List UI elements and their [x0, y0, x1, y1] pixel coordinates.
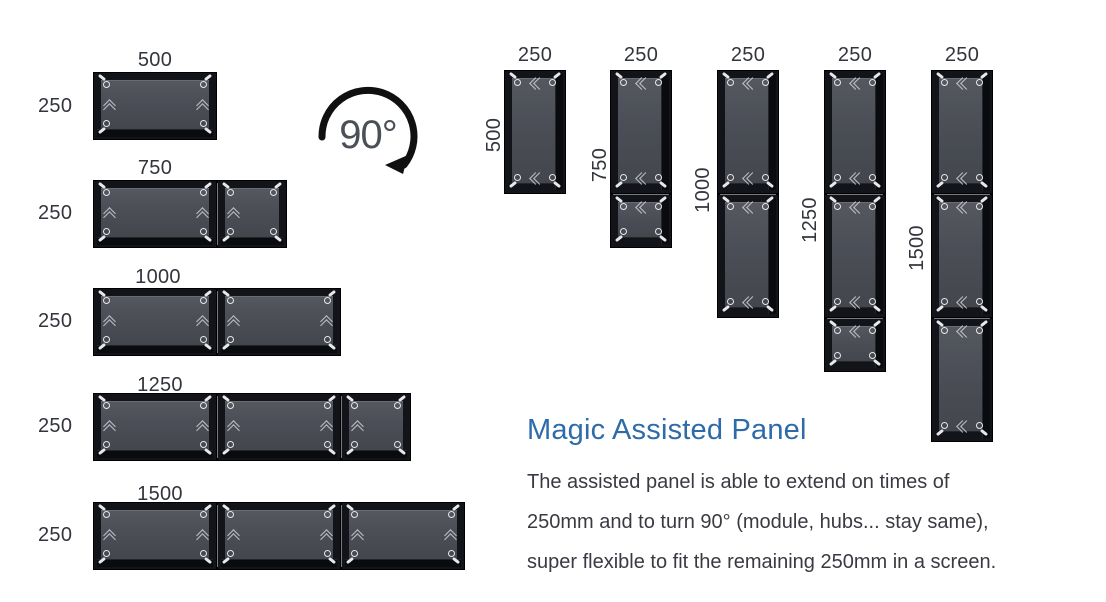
latch-icon — [201, 441, 214, 454]
latch-icon — [550, 174, 563, 187]
module-seam — [217, 291, 218, 353]
chevron-align-icon — [445, 531, 456, 540]
latch-icon — [344, 441, 357, 454]
latch-icon — [96, 336, 109, 349]
chevron-align-icon — [958, 78, 967, 89]
chevron-align-icon — [228, 209, 239, 218]
latch-icon — [934, 298, 947, 311]
chevron-align-icon — [104, 209, 115, 218]
latch-icon — [656, 174, 669, 187]
chevron-align-icon — [637, 202, 646, 213]
panel-module — [931, 194, 993, 318]
description-line-1: The assisted panel is able to extend on … — [527, 462, 1067, 502]
dimension-label-width-1250: 1250 — [137, 375, 183, 395]
chevron-align-icon — [637, 173, 646, 184]
panel-module — [217, 393, 341, 461]
chevron-align-icon — [851, 326, 860, 337]
chevron-align-icon — [104, 317, 115, 326]
latch-icon — [977, 321, 990, 334]
latch-icon — [96, 183, 109, 196]
dimension-label-width-500: 500 — [138, 50, 172, 70]
latch-icon — [870, 298, 883, 311]
panel-module — [717, 194, 779, 318]
latch-icon — [827, 174, 840, 187]
latch-icon — [325, 396, 338, 409]
latch-icon — [220, 291, 233, 304]
latch-icon — [220, 441, 233, 454]
latch-icon — [325, 291, 338, 304]
latch-icon — [96, 505, 109, 518]
latch-icon — [827, 197, 840, 210]
panel-module — [824, 194, 886, 318]
latch-icon — [977, 422, 990, 435]
panel-horizontal-1500 — [93, 502, 465, 570]
latch-icon — [656, 73, 669, 86]
panel-module — [341, 393, 411, 461]
latch-icon — [201, 336, 214, 349]
latch-icon — [720, 73, 733, 86]
latch-icon — [613, 174, 626, 187]
chevron-align-icon — [197, 317, 208, 326]
latch-icon — [325, 336, 338, 349]
latch-icon — [870, 197, 883, 210]
latch-icon — [201, 550, 214, 563]
chevron-align-icon — [958, 202, 967, 213]
latch-icon — [220, 336, 233, 349]
panel-vertical-1250 — [824, 70, 886, 372]
latch-icon — [96, 228, 109, 241]
latch-icon — [763, 174, 776, 187]
panel-horizontal-750 — [93, 180, 287, 248]
latch-icon — [96, 396, 109, 409]
panel-module — [931, 70, 993, 194]
latch-icon — [220, 183, 233, 196]
panel-vertical-750 — [610, 70, 672, 248]
latch-icon — [720, 197, 733, 210]
chevron-align-icon — [958, 421, 967, 432]
latch-icon — [977, 174, 990, 187]
chevron-align-icon — [637, 78, 646, 89]
rotation-angle-label: 90° — [308, 75, 428, 195]
panel-module — [610, 194, 672, 248]
chevron-align-icon — [851, 173, 860, 184]
dimension-label-height-750: 250 — [38, 203, 72, 223]
latch-icon — [344, 505, 357, 518]
module-seam — [341, 505, 342, 567]
panel-module — [217, 288, 341, 356]
panel-vertical-1500 — [931, 70, 993, 442]
latch-icon — [613, 228, 626, 241]
panel-module — [93, 502, 217, 570]
section-description: The assisted panel is able to extend on … — [527, 462, 1067, 582]
panel-module — [93, 288, 217, 356]
latch-icon — [96, 75, 109, 88]
panel-module — [931, 318, 993, 442]
dimension-label-width-v500: 250 — [518, 45, 552, 65]
latch-icon — [96, 550, 109, 563]
dimension-label-height-1000: 250 — [38, 311, 72, 331]
latch-icon — [827, 321, 840, 334]
module-seam — [827, 318, 883, 319]
latch-icon — [870, 73, 883, 86]
module-seam — [720, 194, 776, 195]
latch-icon — [934, 174, 947, 187]
chevron-align-icon — [104, 101, 115, 110]
latch-icon — [977, 197, 990, 210]
chevron-align-icon — [851, 297, 860, 308]
latch-icon — [220, 228, 233, 241]
chevron-align-icon — [197, 101, 208, 110]
latch-icon — [934, 422, 947, 435]
latch-icon — [201, 291, 214, 304]
panel-module — [824, 70, 886, 194]
panel-module — [610, 70, 672, 194]
latch-icon — [96, 441, 109, 454]
dimension-label-height-1250: 250 — [38, 416, 72, 436]
panel-module — [93, 393, 217, 461]
panel-module — [504, 70, 566, 194]
latch-icon — [395, 396, 408, 409]
latch-icon — [977, 298, 990, 311]
panel-horizontal-1250 — [93, 393, 411, 461]
module-seam — [217, 396, 218, 458]
dimension-label-height-v1500: 1500 — [907, 225, 927, 271]
dimension-label-height-1500: 250 — [38, 525, 72, 545]
chevron-align-icon — [197, 531, 208, 540]
panel-horizontal-1000 — [93, 288, 341, 356]
latch-icon — [449, 505, 462, 518]
dimension-label-height-v1000: 1000 — [693, 167, 713, 213]
panel-module — [217, 502, 341, 570]
chevron-align-icon — [321, 531, 332, 540]
latch-icon — [870, 352, 883, 365]
description-line-3: super flexible to fit the remaining 250m… — [527, 542, 1067, 582]
panel-horizontal-500 — [93, 72, 217, 140]
latch-icon — [550, 73, 563, 86]
dimension-label-height-v1250: 1250 — [800, 197, 820, 243]
rotation-badge: 90° — [308, 75, 428, 195]
latch-icon — [613, 197, 626, 210]
latch-icon — [271, 228, 284, 241]
chevron-align-icon — [104, 422, 115, 431]
latch-icon — [96, 291, 109, 304]
latch-icon — [720, 298, 733, 311]
latch-icon — [763, 197, 776, 210]
panel-module — [93, 180, 217, 248]
module-seam — [934, 318, 990, 319]
chevron-align-icon — [958, 326, 967, 337]
latch-icon — [325, 505, 338, 518]
latch-icon — [344, 396, 357, 409]
module-seam — [217, 505, 218, 567]
latch-icon — [827, 352, 840, 365]
latch-icon — [656, 197, 669, 210]
latch-icon — [870, 174, 883, 187]
latch-icon — [271, 183, 284, 196]
latch-icon — [827, 298, 840, 311]
panel-module — [93, 72, 217, 140]
chevron-align-icon — [531, 78, 540, 89]
chevron-align-icon — [744, 78, 753, 89]
module-seam — [217, 183, 218, 245]
chevron-align-icon — [531, 173, 540, 184]
dimension-label-height-v500: 500 — [484, 118, 504, 152]
latch-icon — [763, 73, 776, 86]
dimension-label-height-v750: 750 — [590, 148, 610, 182]
module-seam — [613, 194, 669, 195]
chevron-align-icon — [352, 531, 363, 540]
chevron-align-icon — [851, 202, 860, 213]
latch-icon — [96, 120, 109, 133]
latch-icon — [720, 174, 733, 187]
module-seam — [827, 194, 883, 195]
latch-icon — [201, 75, 214, 88]
latch-icon — [201, 505, 214, 518]
chevron-align-icon — [228, 531, 239, 540]
chevron-align-icon — [851, 78, 860, 89]
latch-icon — [449, 550, 462, 563]
chevron-align-icon — [744, 173, 753, 184]
latch-icon — [201, 228, 214, 241]
latch-icon — [220, 396, 233, 409]
panel-module — [824, 318, 886, 372]
chevron-align-icon — [104, 531, 115, 540]
latch-icon — [827, 73, 840, 86]
chevron-align-icon — [197, 209, 208, 218]
latch-icon — [507, 73, 520, 86]
latch-icon — [395, 441, 408, 454]
panel-vertical-500 — [504, 70, 566, 194]
latch-icon — [507, 174, 520, 187]
latch-icon — [201, 183, 214, 196]
dimension-label-width-750: 750 — [138, 158, 172, 178]
chevron-align-icon — [744, 202, 753, 213]
latch-icon — [325, 550, 338, 563]
latch-icon — [656, 228, 669, 241]
chevron-align-icon — [744, 297, 753, 308]
dimension-label-width-1500: 1500 — [137, 484, 183, 504]
chevron-align-icon — [228, 317, 239, 326]
panel-module — [717, 70, 779, 194]
latch-icon — [934, 321, 947, 334]
dimension-label-width-v750: 250 — [624, 45, 658, 65]
panel-vertical-1000 — [717, 70, 779, 318]
latch-icon — [934, 73, 947, 86]
latch-icon — [201, 120, 214, 133]
latch-icon — [763, 298, 776, 311]
dimension-label-width-v1250: 250 — [838, 45, 872, 65]
latch-icon — [220, 550, 233, 563]
chevron-align-icon — [228, 422, 239, 431]
latch-icon — [201, 396, 214, 409]
latch-icon — [977, 73, 990, 86]
dimension-label-height-500: 250 — [38, 96, 72, 116]
latch-icon — [870, 321, 883, 334]
module-seam — [934, 194, 990, 195]
chevron-align-icon — [197, 422, 208, 431]
section-headline: Magic Assisted Panel — [527, 414, 807, 447]
latch-icon — [220, 505, 233, 518]
latch-icon — [613, 73, 626, 86]
chevron-align-icon — [958, 297, 967, 308]
dimension-label-width-v1000: 250 — [731, 45, 765, 65]
latch-icon — [325, 441, 338, 454]
module-seam — [341, 396, 342, 458]
chevron-align-icon — [321, 422, 332, 431]
description-line-2: 250mm and to turn 90° (module, hubs... s… — [527, 502, 1067, 542]
chevron-align-icon — [958, 173, 967, 184]
panel-module — [341, 502, 465, 570]
chevron-align-icon — [321, 317, 332, 326]
dimension-label-width-1000: 1000 — [135, 267, 181, 287]
latch-icon — [934, 197, 947, 210]
dimension-label-width-v1500: 250 — [945, 45, 979, 65]
latch-icon — [344, 550, 357, 563]
chevron-align-icon — [352, 422, 363, 431]
panel-module — [217, 180, 287, 248]
